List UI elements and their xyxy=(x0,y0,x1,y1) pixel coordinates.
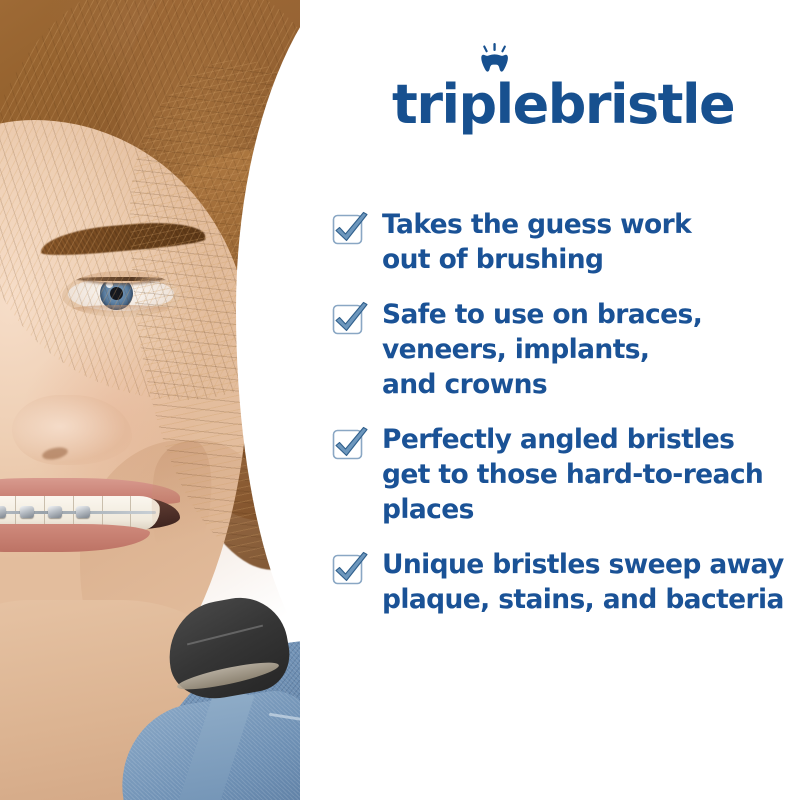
braces-bracket-icon xyxy=(20,506,34,518)
braces-bracket-icon xyxy=(48,506,62,518)
list-item: Takes the guess work out of brushing xyxy=(330,206,800,277)
list-item: Unique bristles sweep away plaque, stain… xyxy=(330,546,800,617)
braces-bracket-icon xyxy=(0,506,6,518)
benefit-text: Safe to use on braces, veneers, implants… xyxy=(382,296,702,402)
lower-lip-icon xyxy=(0,524,150,552)
list-item: Safe to use on braces, veneers, implants… xyxy=(330,296,800,402)
checkbox-checked-icon xyxy=(330,208,370,248)
benefit-text: Takes the guess work out of brushing xyxy=(382,206,691,277)
brand-wordmark: triplebristle xyxy=(392,78,734,132)
checkbox-checked-icon xyxy=(330,548,370,588)
benefit-text: Unique bristles sweep away plaque, stain… xyxy=(382,546,784,617)
checkbox-checked-icon xyxy=(330,423,370,463)
content-pane: triplebristle Takes the gu xyxy=(330,0,800,800)
promo-graphic: triplebristle Takes the gu xyxy=(0,0,800,800)
list-item: Perfectly angled bristles get to those h… xyxy=(330,421,800,527)
checkbox-checked-icon xyxy=(330,298,370,338)
benefit-text: Perfectly angled bristles get to those h… xyxy=(382,421,763,527)
benefits-checklist: Takes the guess work out of brushing Saf… xyxy=(330,206,800,617)
tooth-with-sparkle-icon xyxy=(475,43,515,77)
braces-bracket-icon xyxy=(76,506,90,518)
brand-logo: triplebristle xyxy=(392,60,734,132)
